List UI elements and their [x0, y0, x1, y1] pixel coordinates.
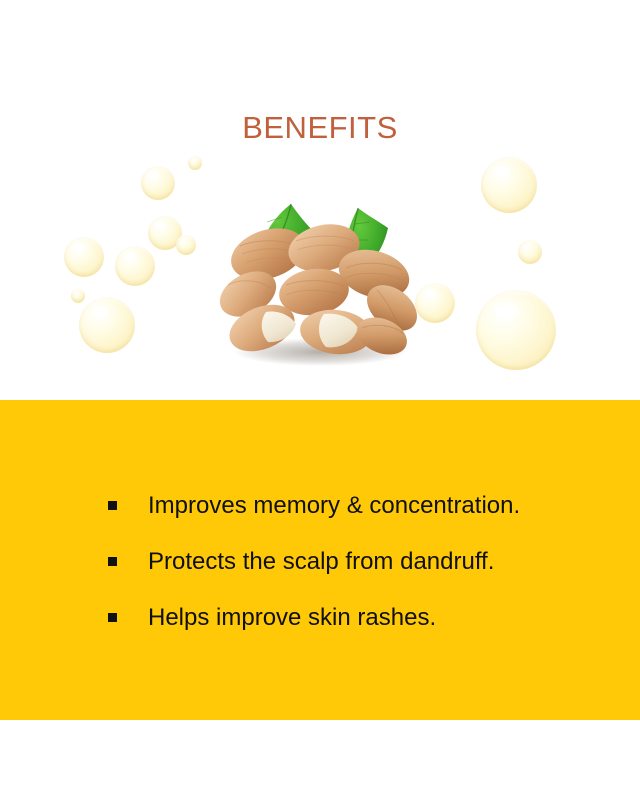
slide-root: BENEFITS — [0, 0, 640, 800]
benefits-list: Improves memory & concentration. Protect… — [0, 478, 640, 646]
bubble-icon — [476, 290, 556, 370]
bubble-icon — [64, 237, 104, 277]
bullet-square-icon — [108, 501, 117, 510]
bubble-icon — [518, 240, 542, 264]
page-title: BENEFITS — [0, 112, 640, 143]
list-item-label: Protects the scalp from dandruff. — [148, 549, 494, 575]
bubble-icon — [115, 246, 155, 286]
bottom-white-strip — [0, 720, 640, 800]
almond-cluster-image — [196, 186, 444, 366]
bullet-square-icon — [108, 557, 117, 566]
list-item-label: Improves memory & concentration. — [148, 493, 520, 519]
hero-section: BENEFITS — [0, 0, 640, 400]
bubble-icon — [148, 216, 182, 250]
bubble-icon — [188, 156, 202, 170]
bubble-icon — [79, 297, 135, 353]
bubble-icon — [141, 166, 175, 200]
list-item-label: Helps improve skin rashes. — [148, 605, 436, 631]
list-item: Protects the scalp from dandruff. — [0, 534, 640, 590]
benefits-band: Improves memory & concentration. Protect… — [0, 400, 640, 720]
bubble-icon — [71, 289, 85, 303]
bubble-icon — [481, 157, 537, 213]
list-item: Helps improve skin rashes. — [0, 590, 640, 646]
bubble-icon — [176, 235, 196, 255]
bullet-square-icon — [108, 613, 117, 622]
list-item: Improves memory & concentration. — [0, 478, 640, 534]
